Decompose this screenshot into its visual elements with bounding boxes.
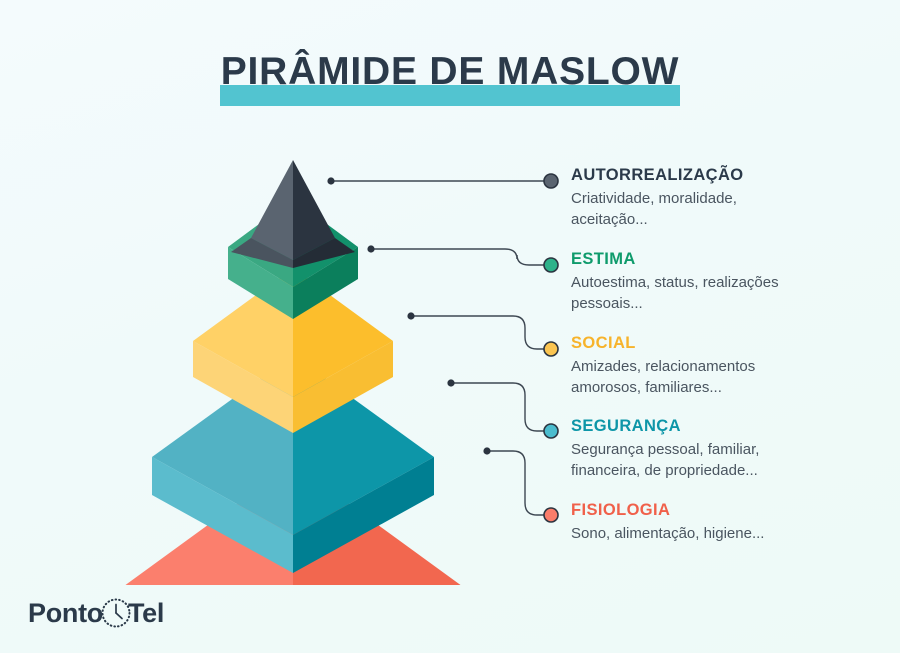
legend-item-fisiologia[interactable]: FISIOLOGIA Sono, alimentação, higiene...	[571, 501, 881, 544]
connector-lines	[0, 0, 900, 653]
legend-item-seguranca-label: SEGURANÇA	[571, 417, 881, 435]
legend-item-estima-label: ESTIMA	[571, 250, 881, 268]
legend-item-social[interactable]: SOCIAL Amizades, relacionamentos amoroso…	[571, 334, 881, 399]
logo-word-tel: Tel	[128, 600, 164, 627]
connector-seguranca	[447, 379, 558, 438]
legend-item-social-label: SOCIAL	[571, 334, 881, 352]
connector-estima	[367, 245, 558, 272]
legend-item-estima-description: Autoestima, status, realizações pessoais…	[571, 272, 803, 315]
legend-item-autorrealizacao-description: Criatividade, moralidade, aceitação...	[571, 188, 803, 231]
legend-item-estima[interactable]: ESTIMA Autoestima, status, realizações p…	[571, 250, 881, 315]
logo-word-ponto: Ponto	[28, 600, 103, 627]
legend-item-autorrealizacao[interactable]: AUTORREALIZAÇÃO Criatividade, moralidade…	[571, 166, 881, 231]
legend-item-fisiologia-label: FISIOLOGIA	[571, 501, 881, 519]
connector-fisiologia	[483, 447, 558, 522]
legend-item-social-description: Amizades, relacionamentos amorosos, fami…	[571, 356, 803, 399]
legend-item-seguranca-description: Segurança pessoal, familiar, financeira,…	[571, 439, 803, 482]
connector-social	[407, 312, 558, 356]
legend-item-autorrealizacao-label: AUTORREALIZAÇÃO	[571, 166, 881, 184]
legend-item-fisiologia-description: Sono, alimentação, higiene...	[571, 523, 803, 544]
pontotel-logo[interactable]: Ponto Tel	[28, 596, 164, 630]
legend-item-seguranca[interactable]: SEGURANÇA Segurança pessoal, familiar, f…	[571, 417, 881, 482]
connector-autorrealizacao	[327, 174, 558, 188]
